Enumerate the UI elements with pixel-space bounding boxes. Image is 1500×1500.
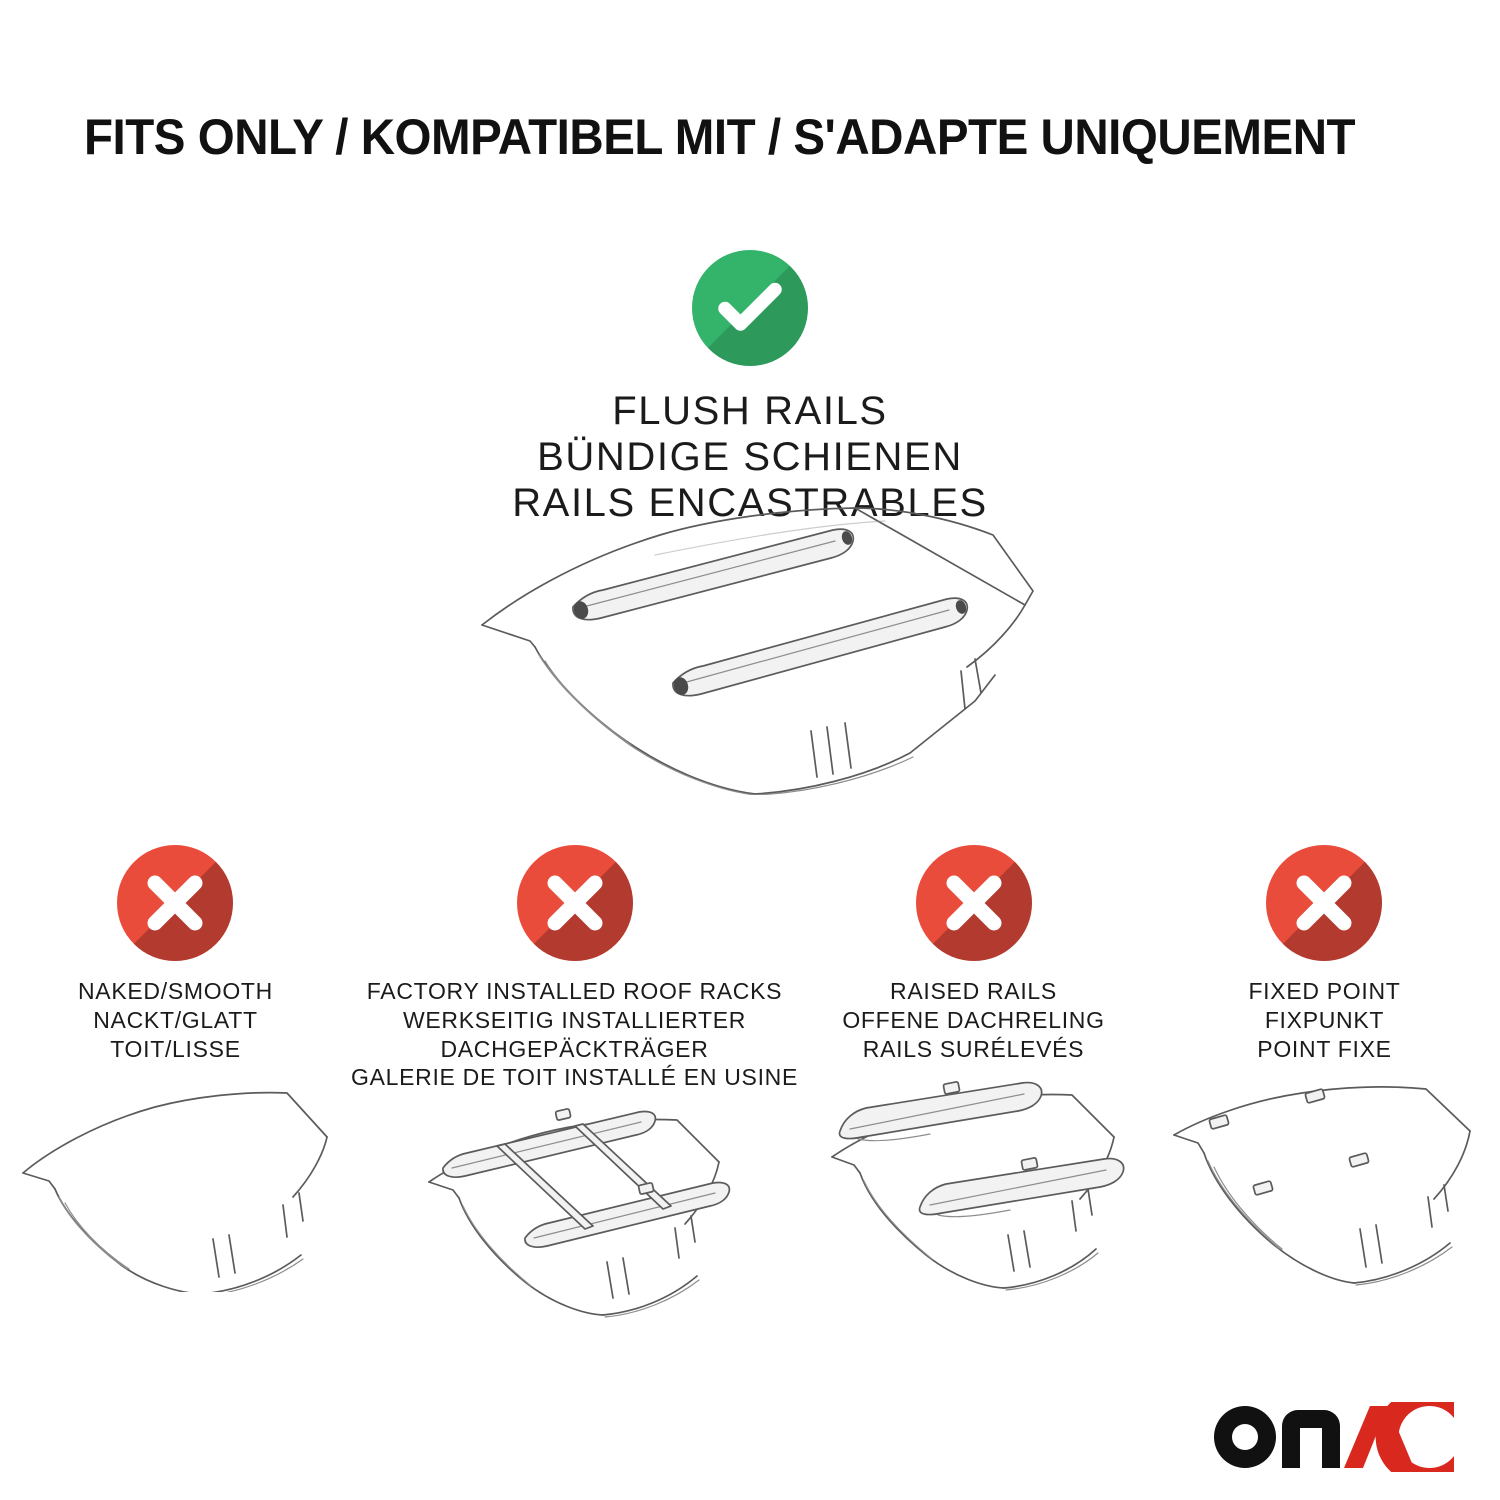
incompatible-item-fixed-point: FIXED POINT FIXPUNKT POINT FIXE — [1149, 845, 1500, 1321]
x-circle-icon — [1266, 845, 1382, 961]
label-de: FIXPUNKT — [1248, 1006, 1400, 1035]
incompatible-labels: FIXED POINT FIXPUNKT POINT FIXE — [1248, 977, 1400, 1063]
incompatible-labels: FACTORY INSTALLED ROOF RACKS WERKSEITIG … — [351, 977, 798, 1092]
incompatible-labels: NAKED/SMOOTH NACKT/GLATT TOIT/LISSE — [78, 977, 273, 1063]
label-en: RAISED RAILS — [842, 977, 1104, 1006]
label-en: FACTORY INSTALLED ROOF RACKS — [351, 977, 798, 1006]
check-circle-icon — [692, 250, 808, 366]
label-en: NAKED/SMOOTH — [78, 977, 273, 1006]
label-fr: RAILS SURÉLEVÉS — [842, 1035, 1104, 1064]
compatible-label-en: FLUSH RAILS — [512, 388, 988, 434]
page-title: FITS ONLY / KOMPATIBEL MIT / S'ADAPTE UN… — [84, 108, 1357, 166]
label-de-2: DACHGEPÄCKTRÄGER — [351, 1035, 798, 1064]
label-fr: GALERIE DE TOIT INSTALLÉ EN USINE — [351, 1063, 798, 1092]
car-roof-fixed-point-illustration — [1154, 1077, 1494, 1292]
x-circle-icon — [517, 845, 633, 961]
x-circle-icon — [117, 845, 233, 961]
car-roof-raised-rails-illustration — [804, 1077, 1144, 1292]
incompatible-item-naked-smooth: NAKED/SMOOTH NACKT/GLATT TOIT/LISSE — [0, 845, 351, 1321]
label-fr: TOIT/LISSE — [78, 1035, 273, 1064]
label-en: FIXED POINT — [1248, 977, 1400, 1006]
incompatible-labels: RAISED RAILS OFFENE DACHRELING RAILS SUR… — [842, 977, 1104, 1063]
label-de: NACKT/GLATT — [78, 1006, 273, 1035]
incompatible-item-factory-racks: FACTORY INSTALLED ROOF RACKS WERKSEITIG … — [351, 845, 798, 1321]
x-circle-icon — [916, 845, 1032, 961]
label-de-1: WERKSEITIG INSTALLIERTER — [351, 1006, 798, 1035]
label-de: OFFENE DACHRELING — [842, 1006, 1104, 1035]
omac-logo — [1208, 1402, 1458, 1472]
compatible-section: FLUSH RAILS BÜNDIGE SCHIENEN RAILS ENCAS… — [0, 250, 1500, 526]
car-roof-factory-racks-illustration — [405, 1106, 745, 1321]
car-roof-flush-rails-illustration — [455, 495, 1055, 795]
car-roof-naked-illustration — [5, 1077, 345, 1292]
label-fr: POINT FIXE — [1248, 1035, 1400, 1064]
incompatible-item-raised-rails: RAISED RAILS OFFENE DACHRELING RAILS SUR… — [798, 845, 1149, 1321]
compatible-label-de: BÜNDIGE SCHIENEN — [512, 434, 988, 480]
incompatible-section: NAKED/SMOOTH NACKT/GLATT TOIT/LISSE — [0, 845, 1500, 1321]
